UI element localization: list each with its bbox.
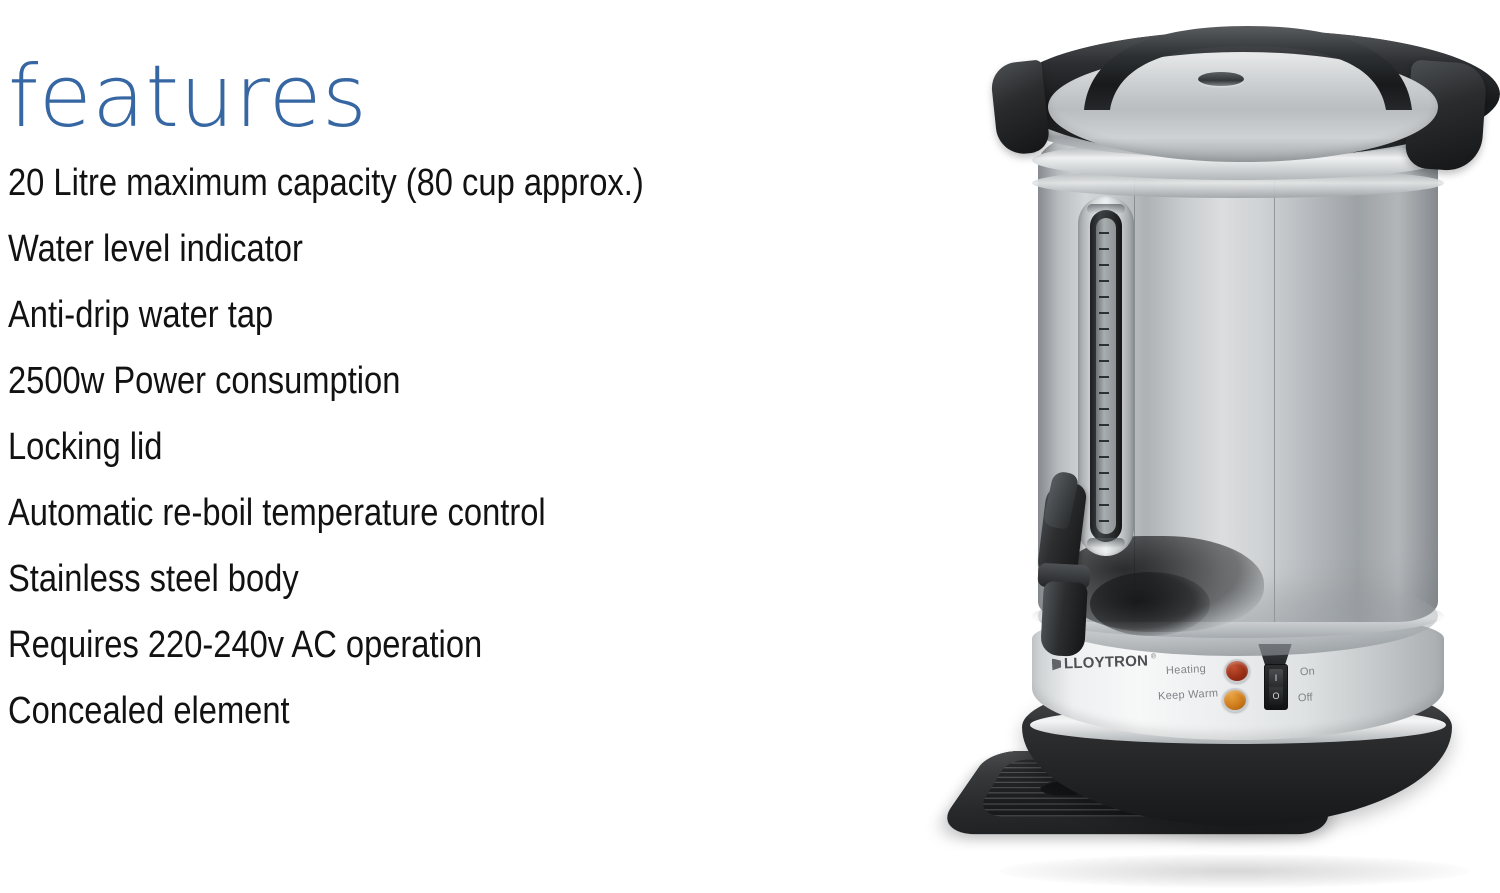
gauge-cap-bottom xyxy=(1087,538,1125,548)
water-level-tube xyxy=(1096,218,1116,534)
water-level-graduations xyxy=(1099,232,1109,528)
water-level-indicator xyxy=(1078,196,1134,556)
page-title: features xyxy=(8,50,367,145)
switch-on-mark-icon: I xyxy=(1275,674,1278,683)
switch-on-label: On xyxy=(1300,666,1315,679)
water-level-window xyxy=(1090,210,1122,542)
brand-mark-icon xyxy=(1052,658,1061,670)
keep-warm-indicator-lamp xyxy=(1222,688,1248,712)
switch-off-label: Off xyxy=(1298,692,1313,705)
heating-indicator-lamp xyxy=(1224,659,1250,683)
feature-item-voltage: Requires 220-240v AC operation xyxy=(8,612,782,678)
features-panel: features 20 Litre maximum capacity (80 c… xyxy=(0,0,920,893)
contact-shadow xyxy=(1000,854,1470,888)
feature-item-anti-drip-tap: Anti-drip water tap xyxy=(8,282,782,348)
heating-indicator-label: Heating xyxy=(1166,663,1207,677)
feature-item-concealed-elem: Concealed element xyxy=(8,678,782,744)
switch-off-mark-icon: O xyxy=(1272,692,1279,701)
feature-item-stainless-body: Stainless steel body xyxy=(8,546,782,612)
product-image-water-urn: LLOYTRON ® Heating Keep Warm I O On Off xyxy=(960,16,1500,893)
feature-item-water-level: Water level indicator xyxy=(8,216,782,282)
power-switch[interactable]: I O xyxy=(1264,664,1288,710)
carry-handle[interactable] xyxy=(1080,22,1416,114)
gauge-cap-top xyxy=(1087,204,1125,214)
tap-shadow xyxy=(1090,572,1210,636)
feature-item-locking-lid: Locking lid xyxy=(8,414,782,480)
brand-name: LLOYTRON xyxy=(1064,652,1149,672)
feature-item-capacity: 20 Litre maximum capacity (80 cup approx… xyxy=(8,150,782,216)
power-switch-rocker[interactable]: I O xyxy=(1269,669,1283,705)
registered-mark: ® xyxy=(1151,653,1156,660)
features-page: features 20 Litre maximum capacity (80 c… xyxy=(0,0,1500,893)
feature-list: 20 Litre maximum capacity (80 cup approx… xyxy=(8,150,908,744)
lid-side-handle-left[interactable] xyxy=(989,60,1050,157)
anti-drip-tap-spout xyxy=(1040,581,1088,657)
feature-item-reboil-control: Automatic re-boil temperature control xyxy=(8,480,782,546)
feature-item-power: 2500w Power consumption xyxy=(8,348,782,414)
